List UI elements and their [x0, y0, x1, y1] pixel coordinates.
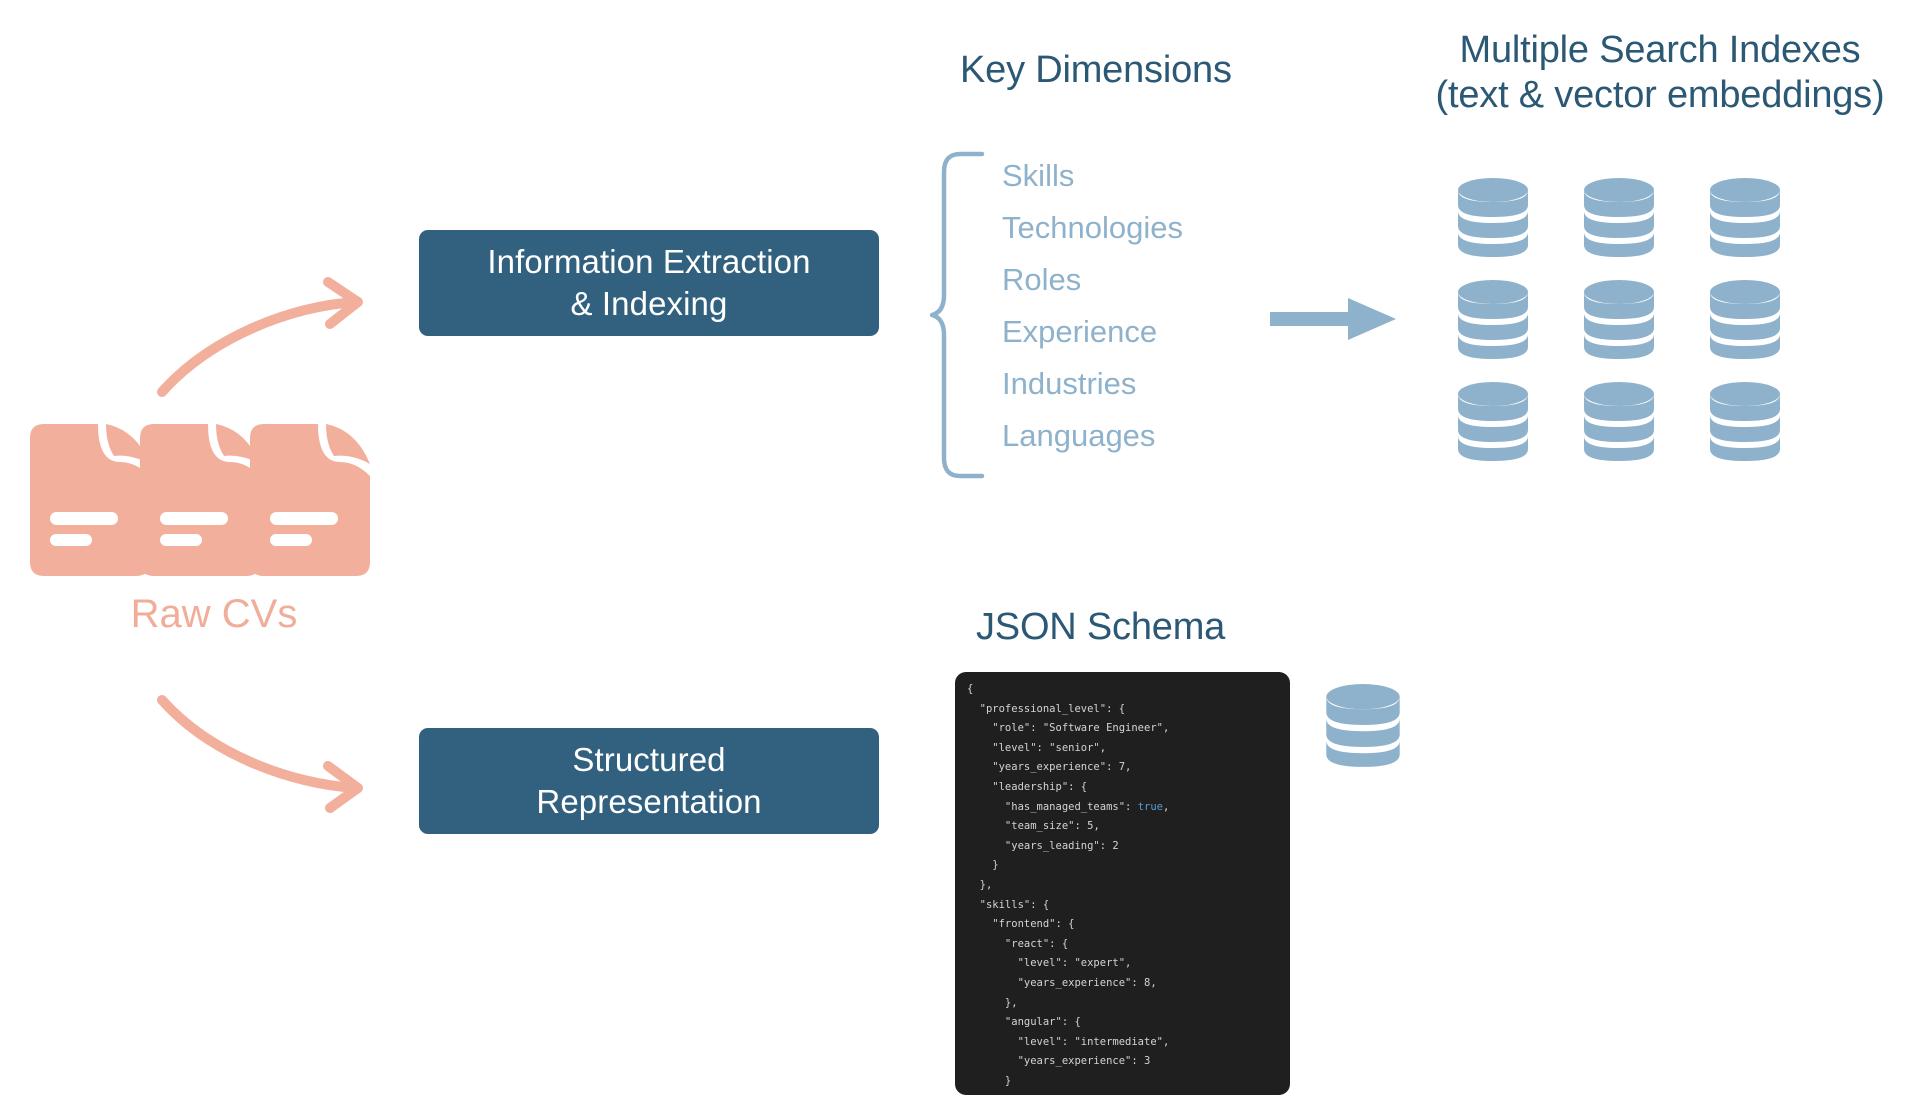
database-icon [1578, 175, 1660, 261]
database-icon [1704, 277, 1786, 363]
database-icon-cell [1704, 379, 1830, 481]
database-icon [1704, 175, 1786, 261]
curly-brace-icon [930, 150, 990, 480]
box-structured-line2: Representation [536, 783, 761, 820]
dimension-item: Experience [1002, 306, 1183, 358]
dimension-item: Skills [1002, 150, 1183, 202]
database-icon [1704, 379, 1786, 465]
search-indexes-title-line2: (text & vector embeddings) [1436, 74, 1885, 116]
arrow-raw-cvs-to-structured [150, 680, 390, 810]
key-dimensions-group: Skills Technologies Roles Experience Ind… [930, 150, 1260, 480]
database-icon [1320, 680, 1406, 772]
dimension-item: Roles [1002, 254, 1183, 306]
process-box-extraction[interactable]: Information Extraction & Indexing [419, 230, 879, 336]
document-icon [244, 420, 376, 580]
dimension-item: Industries [1002, 358, 1183, 410]
raw-cvs-group: Raw CVs [14, 420, 414, 670]
process-box-structured[interactable]: Structured Representation [419, 728, 879, 834]
json-schema-title: JSON Schema [976, 605, 1225, 650]
database-icon [1578, 379, 1660, 465]
diagram-canvas: Key Dimensions Multiple Search Indexes (… [0, 0, 1920, 1120]
database-icon [1452, 175, 1534, 261]
json-schema-code-text: { "professional_level": { "role": "Softw… [955, 680, 1290, 1095]
search-index-grid [1452, 175, 1830, 481]
arrow-raw-cvs-to-extraction [150, 280, 390, 410]
database-icon-cell [1578, 379, 1704, 481]
dimension-item: Languages [1002, 410, 1183, 462]
dimension-item: Technologies [1002, 202, 1183, 254]
database-icon-cell [1452, 379, 1578, 481]
key-dimensions-title: Key Dimensions [960, 48, 1232, 93]
database-icon-cell [1704, 175, 1830, 277]
box-extraction-line2: & Indexing [571, 285, 728, 322]
database-icon-cell [1578, 175, 1704, 277]
key-dimensions-list: Skills Technologies Roles Experience Ind… [1002, 150, 1183, 462]
raw-cvs-label: Raw CVs [14, 592, 414, 637]
search-indexes-title: Multiple Search Indexes (text & vector e… [1395, 28, 1920, 118]
database-icon [1452, 379, 1534, 465]
arrow-dimensions-to-indexes [1270, 290, 1410, 350]
database-icon-cell [1452, 277, 1578, 379]
search-indexes-title-line1: Multiple Search Indexes [1460, 29, 1861, 71]
database-icon-cell [1704, 277, 1830, 379]
json-schema-code-block: { "professional_level": { "role": "Softw… [955, 672, 1290, 1095]
box-extraction-line1: Information Extraction [487, 243, 810, 280]
box-structured-line1: Structured [572, 741, 725, 778]
database-icon [1452, 277, 1534, 363]
database-icon-cell [1452, 175, 1578, 277]
database-icon [1578, 277, 1660, 363]
database-icon-cell [1578, 277, 1704, 379]
